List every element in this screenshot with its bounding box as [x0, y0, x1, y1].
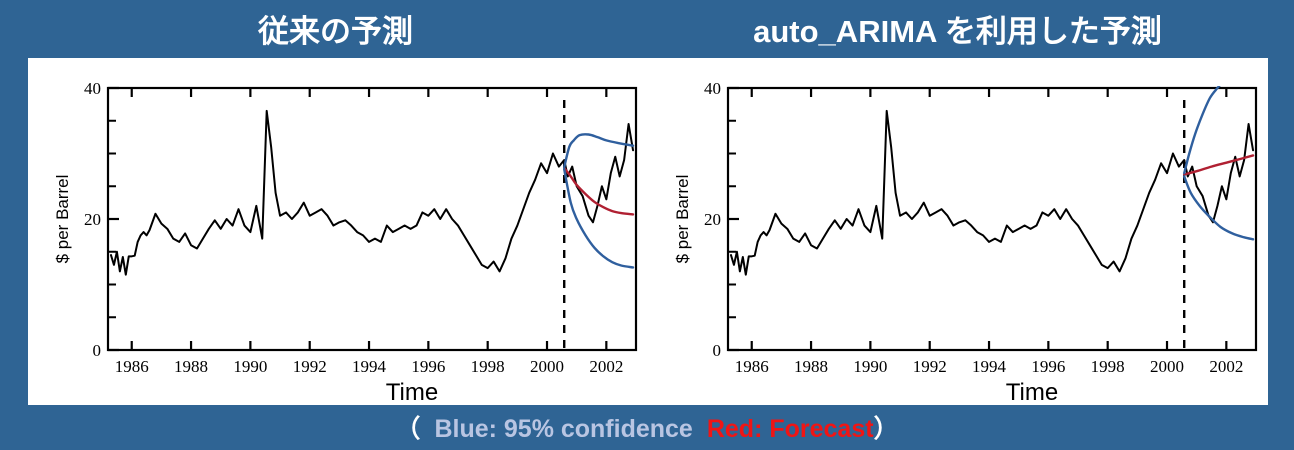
y-axis-label: $ per Barrel: [53, 175, 72, 264]
series-observed: [731, 111, 1253, 275]
caption-close-paren: ）: [874, 415, 899, 443]
x-tick-label: 1992: [913, 357, 947, 376]
x-tick-label: 1996: [411, 357, 445, 376]
y-tick-label: 0: [713, 341, 722, 360]
x-tick-label: 2002: [589, 357, 623, 376]
y-tick-label: 20: [84, 210, 101, 229]
chart-conventional-forecast: 0204019861988199019921994199619982000200…: [28, 58, 648, 405]
y-tick-label: 40: [84, 79, 101, 98]
x-tick-label: 1986: [115, 357, 149, 376]
x-tick-label: 1996: [1031, 357, 1065, 376]
x-tick-label: 1988: [174, 357, 208, 376]
y-tick-label: 20: [704, 210, 721, 229]
x-tick-label: 1998: [471, 357, 505, 376]
chart-svg-right: 0204019861988199019921994199619982000200…: [648, 58, 1268, 405]
chart-auto-arima-forecast: 0204019861988199019921994199619982000200…: [648, 58, 1268, 405]
chart-title-right: auto_ARIMA を利用した予測: [650, 8, 1265, 56]
y-tick-label: 40: [704, 79, 721, 98]
caption-red-label: Red: Forecast: [707, 415, 874, 443]
series-group: [731, 81, 1253, 274]
x-tick-label: 1998: [1091, 357, 1125, 376]
series-ci-upper-95: [1184, 81, 1223, 173]
caption-blue-label: Blue: 95% confidence: [434, 415, 692, 443]
y-tick-label: 0: [93, 341, 102, 360]
chart-svg-left: 0204019861988199019921994199619982000200…: [28, 58, 648, 405]
x-tick-label: 2000: [530, 357, 564, 376]
series-ci-lower-95: [1184, 176, 1253, 239]
x-tick-label: 2000: [1150, 357, 1184, 376]
x-tick-label: 1990: [853, 357, 887, 376]
y-axis-label: $ per Barrel: [673, 175, 692, 264]
plot-frame: [108, 88, 636, 350]
x-axis-label: Time: [386, 379, 438, 405]
x-axis-label: Time: [1006, 379, 1058, 405]
x-tick-label: 1994: [972, 357, 1007, 376]
slide-root: 従来の予測 auto_ARIMA を利用した予測 020401986198819…: [0, 0, 1294, 450]
x-tick-label: 2002: [1209, 357, 1243, 376]
legend-caption: （Blue: 95% confidenceRed: Forecast）: [0, 408, 1294, 450]
x-tick-label: 1990: [233, 357, 267, 376]
x-tick-label: 1992: [293, 357, 327, 376]
x-tick-label: 1994: [352, 357, 387, 376]
caption-open-paren: （: [395, 415, 420, 443]
plot-frame: [728, 88, 1256, 350]
series-observed: [111, 111, 633, 275]
series-group: [111, 111, 633, 275]
x-tick-label: 1988: [794, 357, 828, 376]
chart-title-left: 従来の予測: [28, 8, 643, 56]
x-tick-label: 1986: [735, 357, 769, 376]
